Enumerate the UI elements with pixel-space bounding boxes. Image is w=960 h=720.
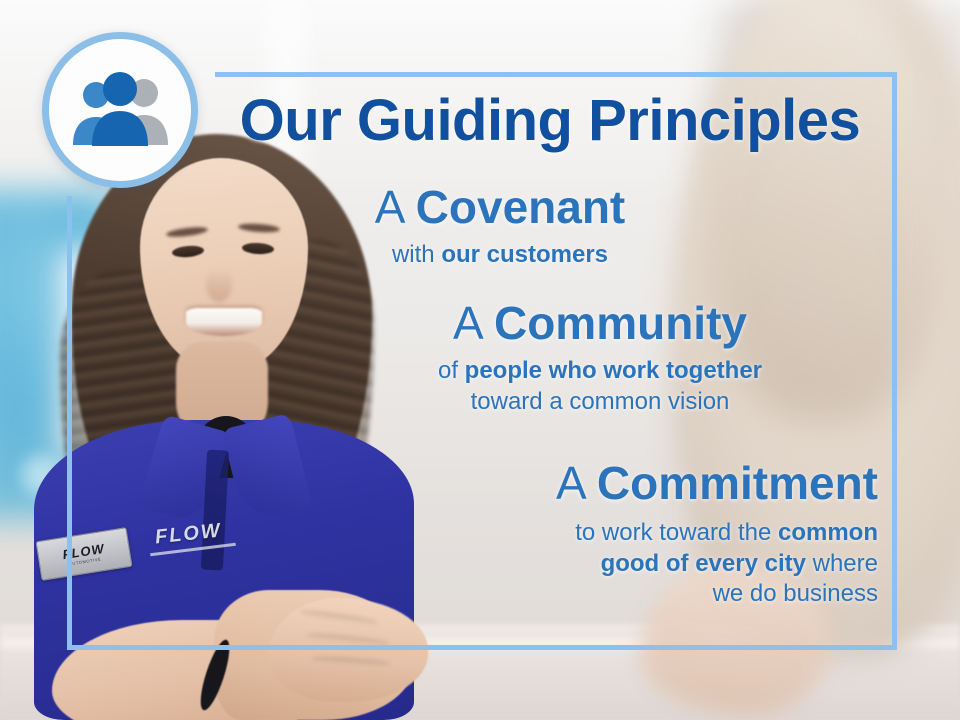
principle-1-word: Covenant — [416, 181, 626, 233]
people-badge — [42, 32, 198, 188]
principle-community: A Community of people who work together … — [360, 300, 840, 417]
principle-2-sub-bold: people who work together — [465, 357, 762, 384]
principle-3-sub-normal-2: where — [806, 550, 878, 577]
people-group-icon — [68, 71, 172, 149]
page-title: Our Guiding Principles — [215, 92, 885, 150]
principle-2-sub-normal: of — [438, 357, 465, 384]
principle-covenant: A Covenant with our customers — [300, 184, 700, 271]
principle-2-title: A Community — [360, 300, 840, 348]
principle-commitment: A Commitment to work toward the common g… — [420, 460, 878, 610]
principle-2-article: A — [453, 297, 481, 349]
principle-2-sub-line-2: toward a common vision — [360, 387, 840, 418]
frame-border-top — [215, 72, 897, 77]
principle-2-sub-line-1: of people who work together — [360, 356, 840, 387]
principle-1-sub-bold: our customers — [441, 241, 608, 268]
principle-3-sub-bold-1: common — [778, 519, 878, 546]
principle-1-title: A Covenant — [300, 184, 700, 232]
frame-border-bottom — [67, 645, 897, 650]
frame-border-left — [67, 196, 72, 650]
principle-3-subtitle: to work toward the common good of every … — [420, 518, 878, 610]
principle-2-word: Community — [494, 297, 747, 349]
principle-1-sub-normal: with — [392, 241, 441, 268]
principle-3-sub-bold-2: good of every city — [601, 550, 806, 577]
principle-3-sub-normal-1: to work toward the — [575, 519, 778, 546]
principle-1-subtitle: with our customers — [300, 240, 700, 271]
principle-3-word: Commitment — [597, 457, 878, 509]
principle-3-sub-line-1: to work toward the common — [420, 518, 878, 549]
principle-1-article: A — [375, 181, 403, 233]
principle-3-sub-line-3: we do business — [420, 579, 878, 610]
employee-smile — [186, 308, 262, 336]
principle-3-sub-line-2: good of every city where — [420, 549, 878, 580]
frame-border-right — [892, 72, 897, 650]
principle-3-title: A Commitment — [420, 460, 878, 508]
principle-2-subtitle: of people who work together toward a com… — [360, 356, 840, 417]
employee-clasped-hands — [268, 598, 428, 702]
employee-nose — [206, 268, 232, 302]
principle-3-article: A — [556, 457, 584, 509]
employee-face — [140, 158, 308, 370]
guiding-principles-graphic: FLOW AUTOMOTIVE FLOW — [0, 0, 960, 720]
